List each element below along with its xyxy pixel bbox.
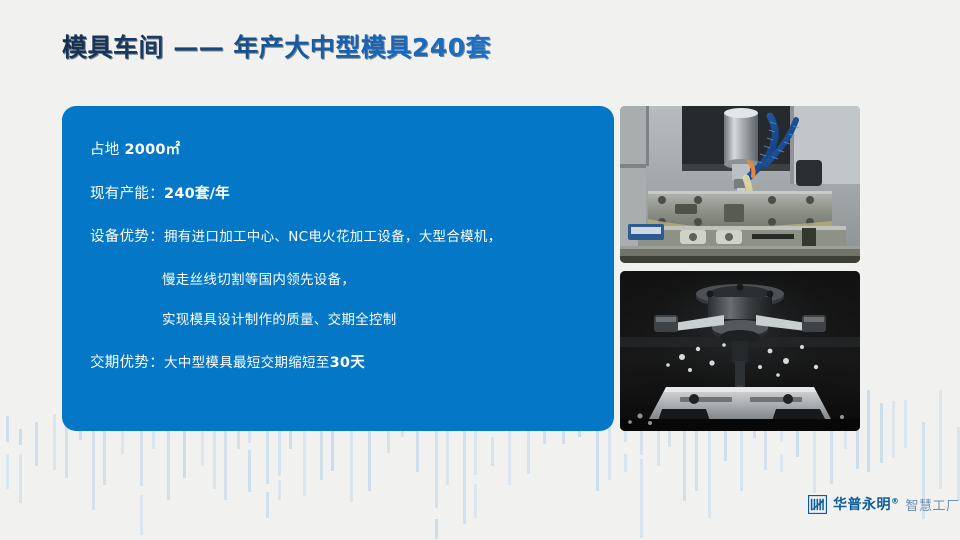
brand-logo: 华普永明® 智慧工厂 <box>808 494 960 514</box>
info-value-capacity: 240套/年 <box>164 186 230 202</box>
brand-name-text: 华普永明 <box>833 497 891 513</box>
page-title: 模具车间 —— 年产大中型模具240套 <box>62 28 491 64</box>
info-line-equipment-cont1: 慢走丝线切割等国内领先设备， <box>162 268 355 288</box>
brand-tagline: 智慧工厂 <box>906 495 960 514</box>
info-label-leadtime: 交期优势： <box>90 355 164 371</box>
info-value-equipment: 拥有进口加工中心、NC电火花加工设备，大型合模机， <box>164 229 502 245</box>
info-value-leadtime: 大中型模具最短交期缩短至 <box>164 355 330 371</box>
info-line-equipment: 设备优势：拥有进口加工中心、NC电火花加工设备，大型合模机， <box>90 225 502 246</box>
info-line-area: 占地 2000㎡ <box>90 138 180 159</box>
info-emphasis-leadtime: 30天 <box>330 355 365 371</box>
info-value-area: 2000㎡ <box>125 142 181 158</box>
brand-name: 华普永明® <box>833 494 900 514</box>
info-label-area: 占地 <box>90 142 125 158</box>
barcode-mark-icon <box>808 495 827 514</box>
info-line-capacity: 现有产能：240套/年 <box>90 182 230 203</box>
brand-registered-mark: ® <box>891 496 900 505</box>
info-panel: 占地 2000㎡ 现有产能：240套/年 设备优势：拥有进口加工中心、NC电火花… <box>62 106 614 431</box>
cnc-milling-illustration <box>620 106 860 263</box>
photo-machining-center <box>620 271 860 431</box>
info-label-capacity: 现有产能： <box>90 186 164 202</box>
photo-cnc-milling <box>620 106 860 263</box>
machining-center-illustration <box>620 271 860 431</box>
info-line-leadtime: 交期优势：大中型模具最短交期缩短至30天 <box>90 351 365 372</box>
info-label-equipment: 设备优势： <box>90 229 164 245</box>
info-line-equipment-cont2: 实现模具设计制作的质量、交期全控制 <box>162 308 397 328</box>
